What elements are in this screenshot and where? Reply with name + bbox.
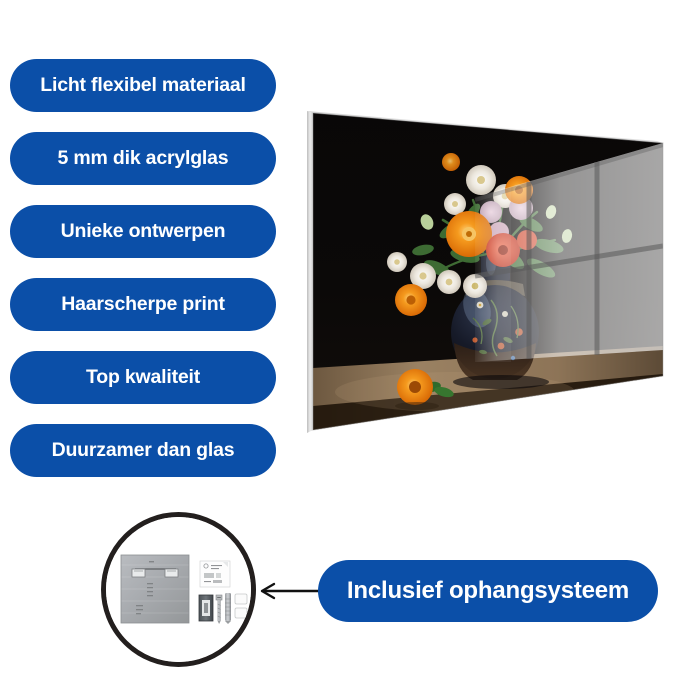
feature-badge-top-kwaliteit[interactable]: Top kwaliteit [10, 351, 276, 404]
feature-badge-licht-flexibel-materiaal[interactable]: Licht flexibel materiaal [10, 59, 276, 112]
artwork-still-life [305, 100, 673, 445]
callout-badge-label: Inclusief ophangsysteem [347, 579, 629, 603]
callout-badge-inclusief-ophangsysteem[interactable]: Inclusief ophangsysteem [318, 560, 658, 622]
panel-thickness-edge [307, 111, 313, 433]
feature-badge-label: Top kwaliteit [86, 368, 200, 388]
product-image-acrylic-print[interactable] [305, 100, 673, 445]
feature-badge-list: Licht flexibel materiaal 5 mm dik acrylg… [10, 59, 276, 497]
instruction-card [200, 561, 230, 587]
hanging-system-detail-circle[interactable] [101, 512, 256, 667]
feature-badge-haarscherpe-print[interactable]: Haarscherpe print [10, 278, 276, 331]
bracket [199, 595, 213, 621]
callout-arrow [252, 578, 328, 604]
plate-clip-left [132, 569, 145, 577]
feature-badge-label: Unieke ontwerpen [61, 222, 226, 242]
feature-badge-5-mm-dik-acrylglas[interactable]: 5 mm dik acrylglas [10, 132, 276, 185]
wall-anchor [225, 593, 231, 624]
feature-badge-duurzamer-dan-glas[interactable]: Duurzamer dan glas [10, 424, 276, 477]
feature-badge-unieke-ontwerpen[interactable]: Unieke ontwerpen [10, 205, 276, 258]
mounting-plate [121, 555, 189, 623]
feature-badge-label: Duurzamer dan glas [52, 441, 235, 461]
feature-badge-label: Haarscherpe print [61, 295, 225, 315]
plate-clip-right [165, 569, 178, 577]
feature-badge-label: Licht flexibel materiaal [40, 76, 245, 96]
feature-badge-label: 5 mm dik acrylglas [58, 149, 229, 169]
